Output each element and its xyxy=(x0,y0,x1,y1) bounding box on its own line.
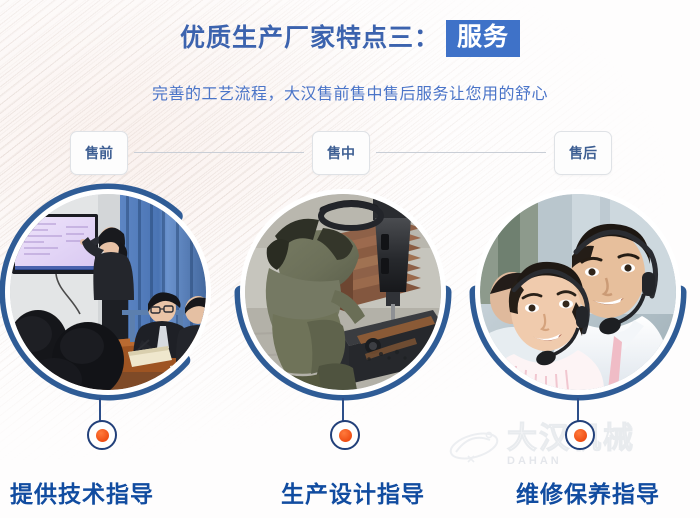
marker-dot xyxy=(339,429,352,442)
stage-connector-stem-1 xyxy=(99,398,101,422)
page-title-text: 优质生产厂家特点三 xyxy=(180,26,414,51)
stage-chip-label: 售后 xyxy=(569,143,597,163)
stage-marker-2 xyxy=(330,420,360,450)
stage-marker-3 xyxy=(565,420,595,450)
dahan-logo-icon xyxy=(448,426,500,466)
stage-caption-2: 生产设计指导 xyxy=(281,475,425,509)
photo-training-presentation xyxy=(10,194,206,390)
stage-caption-1: 提供技术指导 xyxy=(10,475,154,509)
stage-chip-presale[interactable]: 售前 xyxy=(70,131,128,175)
stage-caption-3: 维修保养指导 xyxy=(516,475,660,509)
stage-connector-line-1 xyxy=(134,152,304,153)
stage-photo-2[interactable] xyxy=(237,186,449,398)
watermark-en: DAHAN xyxy=(507,456,635,467)
stage-chip-aftersale[interactable]: 售后 xyxy=(554,131,612,175)
page-subtitle: 完善的工艺流程，大汉售前售中售后服务让您用的舒心 xyxy=(0,80,700,104)
brand-watermark: 大汉机械 DAHAN xyxy=(448,424,635,467)
page-title-colon: ： xyxy=(414,26,439,51)
photo-customer-service xyxy=(480,194,676,390)
stage-photo-3[interactable] xyxy=(472,186,684,398)
stage-photo-1[interactable] xyxy=(2,186,214,398)
stage-connector-stem-2 xyxy=(342,398,344,422)
stage-chip-insale[interactable]: 售中 xyxy=(312,131,370,175)
stage-connector-line-2 xyxy=(376,152,546,153)
promo-banner: 优质生产厂家特点三 ： 服务 完善的工艺流程，大汉售前售中售后服务让您用的舒心 … xyxy=(0,0,700,518)
stage-chip-row: 售前 售中 售后 xyxy=(0,131,700,173)
stage-chip-label: 售前 xyxy=(85,143,113,163)
page-title-badge: 服务 xyxy=(446,20,520,57)
stage-marker-1 xyxy=(87,420,117,450)
marker-dot xyxy=(574,429,587,442)
stage-chip-label: 售中 xyxy=(327,143,355,163)
stage-connector-stem-3 xyxy=(577,398,579,422)
photo-factory-drilling xyxy=(245,194,441,390)
page-title: 优质生产厂家特点三 ： 服务 xyxy=(0,20,700,57)
marker-dot xyxy=(96,429,109,442)
